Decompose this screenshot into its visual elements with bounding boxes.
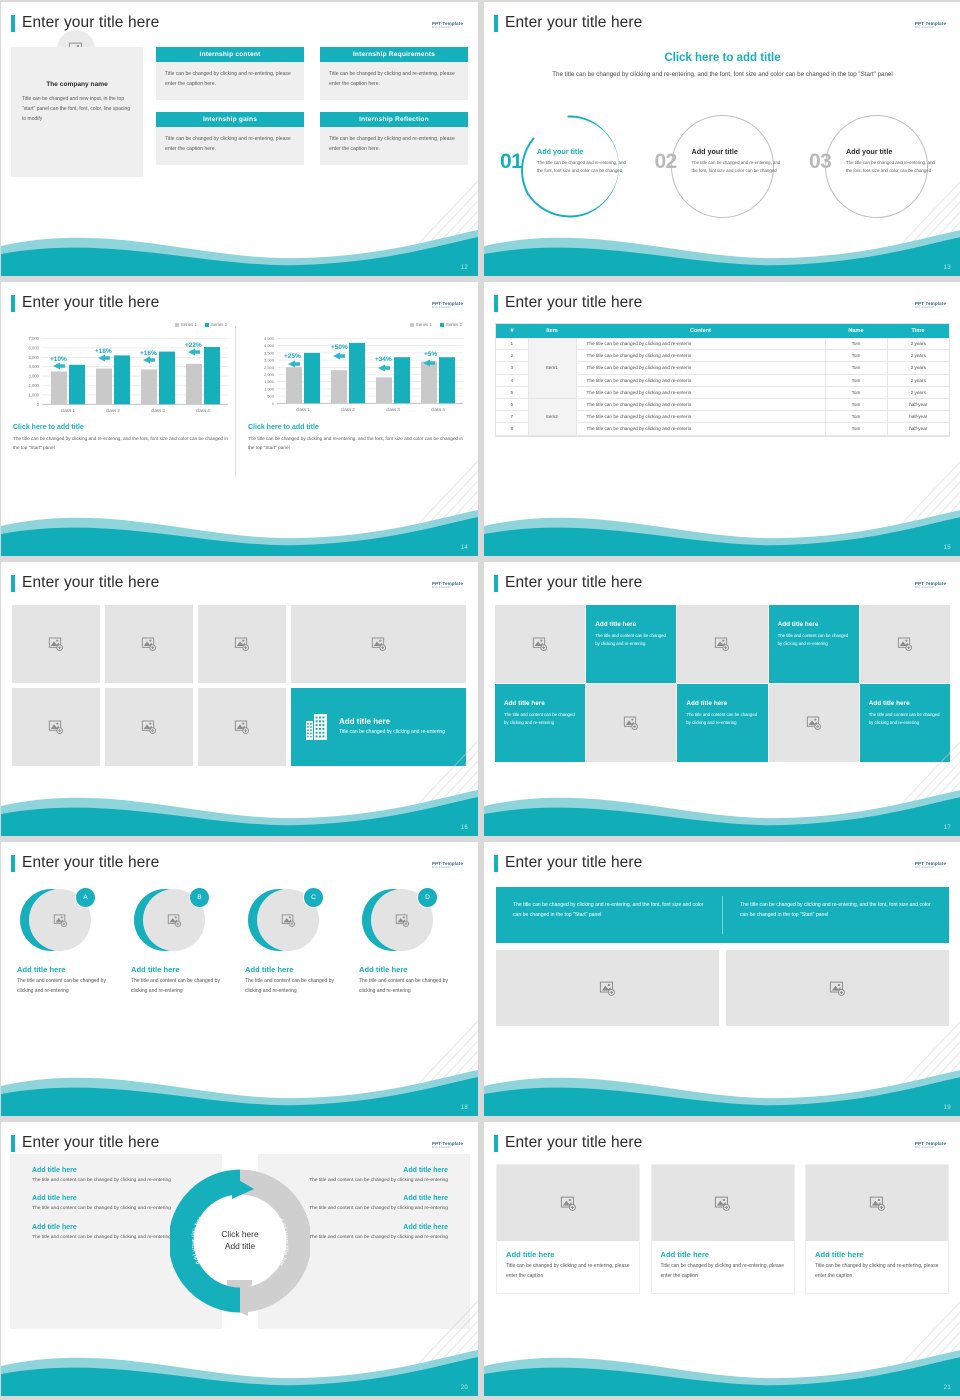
slide-header: Enter your title here (494, 294, 642, 312)
cell-name: Tom (825, 423, 887, 435)
tile-body: The title and content can be changed by … (686, 711, 758, 727)
card-body: Title can be changed by clicking and re-… (506, 1262, 630, 1282)
slide-16[interactable]: Enter your title here PPT Template Free … (1, 562, 478, 836)
step-item[interactable]: 03 Add your title The title can be chang… (807, 112, 947, 222)
svg-text:1,000: 1,000 (29, 392, 40, 397)
x-tick: class 1 (296, 407, 310, 412)
slide-20[interactable]: Enter your title here PPT Template Free … (1, 1122, 478, 1396)
cell-time: half-year (887, 423, 949, 435)
checker-grid: Add title here The title and content can… (495, 605, 950, 762)
image-placeholder[interactable] (726, 950, 949, 1026)
footer-wave (1, 216, 478, 276)
step-circles: 01 Add your title The title can be chang… (498, 112, 947, 222)
tile-heading: Add title here (504, 700, 545, 707)
page-title: Enter your title here (22, 574, 159, 592)
image-placeholder[interactable] (291, 605, 466, 683)
card[interactable]: Internship Reflection Title can be chang… (320, 112, 468, 165)
cell-index: 2 (496, 350, 528, 362)
bar-chart-2: 4,5004,0003,500 3,0002,5002,000 1,5001,0… (248, 330, 468, 415)
card-heading: Add title here (661, 1250, 785, 1259)
circle-item[interactable]: C Add title here The title and content c… (245, 887, 348, 997)
legend-entry: Series 1 (410, 322, 432, 327)
tile-body: The title and content can be changed by … (595, 632, 667, 648)
table-header-row: # Item Content Name Time (496, 324, 949, 338)
title-accent-bar (494, 575, 498, 592)
slide-15[interactable]: Enter your title here PPT Template Free … (484, 282, 960, 556)
annotation: +18% (95, 348, 112, 355)
image-placeholder[interactable] (495, 605, 585, 683)
svg-text:4,500: 4,500 (264, 336, 275, 341)
image-grid: Add title here Title can be changed by c… (12, 605, 467, 766)
card[interactable]: Internship content Title can be changed … (156, 47, 304, 100)
col-name: Name (825, 324, 887, 338)
center-line-1: Click here (221, 1229, 258, 1241)
chart-caption-heading: Click here to add title (13, 424, 233, 431)
slide-header: Enter your title here (11, 574, 159, 592)
cell-time: half-year (887, 411, 949, 423)
slide-13[interactable]: Enter your title here PPT Template Free … (484, 2, 960, 276)
tile-heading: Add title here (595, 621, 636, 628)
item-heading: Add title here (245, 965, 348, 974)
step-heading: Add your title (537, 147, 583, 156)
corner-stripes (348, 1021, 478, 1116)
svg-text:1,500: 1,500 (264, 379, 275, 384)
cell-time: 2 years (887, 350, 949, 362)
text-tile[interactable]: Add title here The title and content can… (495, 684, 585, 762)
image-placeholder-icon (869, 1195, 886, 1212)
tile-body: The title and content can be changed by … (778, 632, 850, 648)
image-placeholder-icon (371, 636, 387, 652)
image-placeholder-icon (53, 913, 68, 928)
cell-name: Tom (825, 398, 887, 410)
title-accent-bar (494, 295, 498, 312)
slide-deck-grid: Enter your title here PPT Template Free … (0, 0, 960, 1400)
x-tick: class 1 (61, 408, 75, 413)
card[interactable]: Add title here Title can be changed by c… (497, 1165, 639, 1293)
page-title: Enter your title here (505, 1134, 642, 1152)
page-number: 19 (944, 1105, 951, 1111)
cell-name: Tom (825, 338, 887, 350)
card[interactable]: Internship gains Title can be changed by… (156, 112, 304, 165)
step-number: 01 (500, 150, 522, 174)
logo: PPT Template Free download (432, 301, 466, 313)
footer-wave (484, 776, 960, 836)
cell-content: The title can be changed by clicking and… (576, 386, 825, 398)
band-text-left: The title can be changed by clicking and… (496, 887, 722, 943)
circle-item[interactable]: D Add title here The title and content c… (359, 887, 462, 997)
annotation: +25% (284, 353, 301, 360)
step-body: The title can be changed and re-entering… (692, 159, 784, 175)
image-placeholder[interactable] (12, 688, 100, 766)
chart-caption-heading: Click here to add title (248, 424, 468, 431)
image-placeholder-icon (234, 636, 250, 652)
step-item[interactable]: 02 Add your title The title can be chang… (653, 112, 793, 222)
cell-content: The title can be changed by clicking and… (576, 423, 825, 435)
chart-caption-body: The title can be changed by clicking and… (248, 434, 468, 452)
corner-stripes (348, 461, 478, 556)
svg-text:500: 500 (267, 394, 274, 399)
card[interactable]: Internship Requirements Title can be cha… (320, 47, 468, 100)
item-body: The title and content can be changed by … (131, 977, 234, 997)
footer-wave (1, 496, 478, 556)
x-tick: class 2 (106, 408, 120, 413)
svg-text:3,000: 3,000 (29, 374, 40, 379)
cell-index: 4 (496, 374, 528, 386)
card-heading: Add title here (815, 1250, 939, 1259)
col-item: Item (528, 324, 576, 338)
logo: PPT Template Free download (432, 21, 466, 33)
svg-text:3,000: 3,000 (264, 358, 275, 363)
card-header: Internship Requirements (320, 47, 468, 62)
item-heading: Add title here (131, 965, 234, 974)
tile-body: The title and content can be changed by … (869, 711, 941, 727)
image-placeholder[interactable] (652, 1165, 794, 1241)
image-placeholder-icon (560, 1195, 577, 1212)
text-tile[interactable]: Add title here The title and content can… (769, 605, 859, 683)
footer-wave (1, 1056, 478, 1116)
chart-block-left: Series 1 Series 2 7,0006,0005,000 4,0003… (13, 322, 233, 452)
card-body: Title can be changed by clicking and re-… (320, 62, 468, 100)
slide-21[interactable]: Enter your title here PPT Template Free … (484, 1122, 960, 1396)
legend-entry: Series 1 (175, 322, 197, 327)
cell-name: Tom (825, 350, 887, 362)
company-panel: The company name Title can be changed an… (11, 47, 143, 177)
title-accent-bar (11, 15, 15, 32)
slide-header: Enter your title here (11, 1134, 159, 1152)
card-header: Internship Reflection (320, 112, 468, 127)
image-placeholder[interactable] (497, 1165, 639, 1241)
svg-text:2,000: 2,000 (29, 383, 40, 388)
item-body: The title and content can be changed by … (359, 977, 462, 997)
circle-items: A Add title here The title and content c… (17, 887, 462, 997)
legend-entry: Series 2 (205, 322, 227, 327)
company-name: The company name (22, 81, 132, 88)
item-body: The title and content can be changed by … (17, 977, 120, 997)
col-time: Time (887, 324, 949, 338)
card-body: Title can be changed by clicking and re-… (815, 1262, 939, 1282)
tile-heading: Add title here (869, 700, 910, 707)
cell-index: 6 (496, 398, 528, 410)
card-row: Add title here Title can be changed by c… (497, 1165, 948, 1293)
cell-time: 2 years (887, 338, 949, 350)
legend-entry: Series 2 (440, 322, 462, 327)
slide-19[interactable]: Enter your title here PPT Template Free … (484, 842, 960, 1116)
item-heading: Add title here (17, 965, 120, 974)
image-placeholder[interactable] (860, 605, 950, 683)
svg-text:6,000: 6,000 (29, 345, 40, 350)
footer-wave (484, 216, 960, 276)
text-tile[interactable]: Add title here The title and content can… (677, 684, 767, 762)
image-placeholder-icon (897, 636, 913, 652)
page-number: 18 (461, 1105, 468, 1111)
svg-text:7,000: 7,000 (29, 336, 40, 341)
card[interactable]: Add title here Title can be changed by c… (806, 1165, 948, 1293)
logo: PPT Template Free download (432, 1141, 466, 1153)
annotation: +34% (375, 356, 392, 363)
item-heading: Add title here (359, 965, 462, 974)
card-heading: Add title here (506, 1250, 630, 1259)
chart-legend: Series 1 Series 2 (248, 322, 468, 327)
image-placeholder[interactable] (198, 605, 286, 683)
slide-12[interactable]: Enter your title here PPT Template Free … (1, 2, 478, 276)
image-placeholder-icon (714, 636, 730, 652)
title-accent-bar (494, 15, 498, 32)
image-row (496, 950, 949, 1026)
page-title: Enter your title here (22, 14, 159, 32)
page-title: Enter your title here (505, 574, 642, 592)
image-placeholder[interactable] (677, 605, 767, 683)
tile-heading: Add title here (778, 621, 819, 628)
tile-body: The title and content can be changed by … (504, 711, 576, 727)
cell-name: Tom (825, 386, 887, 398)
logo: PPT Template Free download (915, 861, 949, 873)
corner-stripes (831, 1021, 960, 1116)
chart-caption-body: The title can be changed by clicking and… (13, 434, 233, 452)
cell-index: 7 (496, 411, 528, 423)
title-accent-bar (11, 295, 15, 312)
slide-header: Enter your title here (494, 574, 642, 592)
cell-time: 2 years (887, 374, 949, 386)
slide-14[interactable]: Enter your title here PPT Template Free … (1, 282, 478, 556)
svg-text:1,000: 1,000 (264, 386, 275, 391)
x-tick: class 2 (341, 407, 355, 412)
cell-time: 2 years (887, 386, 949, 398)
image-placeholder-icon (623, 715, 639, 731)
data-table[interactable]: # Item Content Name Time 1 Item1 The tit… (496, 324, 949, 436)
image-placeholder-icon (829, 980, 846, 997)
cell-name: Tom (825, 362, 887, 374)
title-accent-bar (494, 855, 498, 872)
footer-wave (1, 776, 478, 836)
feature-heading: Add title here (339, 717, 445, 726)
cell-content: The title can be changed by clicking and… (576, 362, 825, 374)
internship-cards: Internship content Title can be changed … (156, 47, 468, 165)
badge: A (75, 887, 96, 908)
cell-index: 8 (496, 423, 528, 435)
svg-text:3,500: 3,500 (264, 350, 275, 355)
annotation: +22% (185, 342, 202, 349)
page-number: 20 (461, 1385, 468, 1391)
step-heading: Add your title (846, 147, 892, 156)
building-icon (305, 713, 329, 741)
badge: C (303, 887, 324, 908)
card[interactable]: Add title here Title can be changed by c… (652, 1165, 794, 1293)
logo: PPT Template Free download (432, 581, 466, 593)
item-body: The title and content can be changed by … (245, 977, 348, 997)
image-placeholder-icon (234, 719, 250, 735)
title-accent-bar (11, 855, 15, 872)
cell-index: 1 (496, 338, 528, 350)
page-number: 15 (944, 545, 951, 551)
image-placeholder[interactable] (198, 688, 286, 766)
annotation: +16% (140, 350, 157, 357)
text-tile[interactable]: Add title here The title and content can… (860, 684, 950, 762)
image-placeholder-icon (806, 715, 822, 731)
slide-header: Enter your title here (11, 14, 159, 32)
circle-item[interactable]: B Add title here The title and content c… (131, 887, 234, 997)
circle-item[interactable]: A Add title here The title and content c… (17, 887, 120, 997)
image-placeholder-icon (532, 636, 548, 652)
divider (235, 326, 236, 476)
badge: B (189, 887, 210, 908)
cell-time: half-year (887, 398, 949, 410)
image-placeholder-icon (48, 719, 64, 735)
table-row[interactable]: 6 Item2 The title can be changed by clic… (496, 398, 949, 410)
annotation: +5% (424, 351, 437, 358)
cell-item: Item1 (528, 338, 576, 398)
step-number: 03 (809, 150, 831, 174)
step-body: The title can be changed and re-entering… (846, 159, 938, 175)
image-placeholder-icon (48, 636, 64, 652)
step-heading: Add your title (692, 147, 738, 156)
col-content: Content (576, 324, 825, 338)
center-line-2: Add title (221, 1241, 258, 1253)
step-number: 02 (655, 150, 677, 174)
feature-body: Title can be changed by clicking and re-… (339, 728, 445, 737)
step-item[interactable]: 01 Add your title The title can be chang… (498, 112, 638, 222)
logo: PPT Template Free download (915, 1141, 949, 1153)
cell-content: The title can be changed by clicking and… (576, 338, 825, 350)
logo: PPT Template Free download (432, 861, 466, 873)
x-tick: class 4 (196, 408, 210, 413)
image-placeholder[interactable] (806, 1165, 948, 1241)
corner-stripes (831, 461, 960, 556)
image-placeholder-icon (141, 719, 157, 735)
cell-name: Tom (825, 374, 887, 386)
page-title: Enter your title here (505, 294, 642, 312)
bar-chart-1: 7,0006,0005,000 4,0003,0002,000 1,0000 (13, 330, 233, 415)
corner-stripes (831, 1301, 960, 1396)
card-header: Internship gains (156, 112, 304, 127)
svg-text:5,000: 5,000 (29, 355, 40, 360)
slide-18[interactable]: Enter your title here PPT Template Free … (1, 842, 478, 1116)
slide-header: Enter your title here (494, 854, 642, 872)
band-text-right: The title can be changed by clicking and… (723, 887, 949, 943)
table-row[interactable]: 1 Item1 The title can be changed by clic… (496, 338, 949, 350)
chart-svg: 4,5004,0003,500 3,0002,5002,000 1,5001,0… (248, 330, 468, 415)
logo: PPT Template Free download (915, 21, 949, 33)
svg-text:2,000: 2,000 (264, 372, 275, 377)
text-tile[interactable]: Add title here The title and content can… (586, 605, 676, 683)
logo: PPT Template Free download (915, 581, 949, 593)
chart-legend: Series 1 Series 2 (13, 322, 233, 327)
annotation: +50% (331, 344, 348, 351)
image-placeholder[interactable] (12, 605, 100, 683)
card-body: Title can be changed by clicking and re-… (156, 62, 304, 100)
cycle-center-label[interactable]: Click here Add title (221, 1229, 258, 1253)
image-placeholder[interactable] (586, 684, 676, 762)
page-title: Enter your title here (22, 1134, 159, 1152)
subheadline: The title can be changed by clicking and… (484, 70, 960, 80)
cell-content: The title can be changed by clicking and… (576, 374, 825, 386)
svg-text:0: 0 (272, 401, 275, 406)
title-accent-bar (11, 1135, 15, 1152)
slide-header: Enter your title here (11, 854, 159, 872)
annotation: +10% (50, 356, 67, 363)
image-placeholder[interactable] (769, 684, 859, 762)
card-body: Title can be changed by clicking and re-… (661, 1262, 785, 1282)
corner-stripes (348, 181, 478, 276)
card-body: Title can be changed by clicking and re-… (320, 127, 468, 165)
page-number: 13 (944, 265, 951, 271)
cell-content: The title can be changed by clicking and… (576, 350, 825, 362)
page-title: Enter your title here (505, 854, 642, 872)
badge: D (417, 887, 438, 908)
image-placeholder-icon (395, 913, 410, 928)
cell-time: 2 years (887, 362, 949, 374)
image-placeholder-icon (281, 913, 296, 928)
footer-wave (1, 1336, 478, 1396)
cell-index: 3 (496, 362, 528, 374)
cell-content: The title can be changed by clicking and… (576, 398, 825, 410)
title-accent-bar (494, 1135, 498, 1152)
logo: PPT Template Free download (915, 301, 949, 313)
headline: Click here to add title (484, 52, 960, 64)
x-tick: class 3 (386, 407, 400, 412)
image-placeholder[interactable] (105, 688, 193, 766)
svg-text:2,500: 2,500 (264, 365, 275, 370)
cell-name: Tom (825, 411, 887, 423)
page-number: 12 (461, 265, 468, 271)
text-band: The title can be changed by clicking and… (496, 887, 949, 943)
company-body: Title can be changed and new input, in t… (22, 95, 132, 124)
cell-index: 5 (496, 386, 528, 398)
x-tick: class 3 (151, 408, 165, 413)
chart-block-right: Series 1 Series 2 4,5004,0003,500 3,0002… (248, 322, 468, 452)
page-number: 17 (944, 825, 951, 831)
feature-tile[interactable]: Add title here Title can be changed by c… (291, 688, 466, 766)
cell-item: Item2 (528, 398, 576, 435)
svg-text:4,000: 4,000 (29, 364, 40, 369)
page-title: Enter your title here (505, 14, 642, 32)
cycle-diagram: Add your title here Add your title here … (170, 1156, 310, 1326)
x-tick: class 4 (431, 407, 445, 412)
step-body: The title can be changed and re-entering… (537, 159, 629, 175)
footer-wave (484, 1056, 960, 1116)
svg-text:4,000: 4,000 (264, 343, 275, 348)
image-placeholder-icon (141, 636, 157, 652)
image-placeholder-icon (714, 1195, 731, 1212)
svg-text:0: 0 (37, 402, 40, 407)
image-placeholder-icon (599, 980, 616, 997)
page-title: Enter your title here (22, 294, 159, 312)
page-number: 16 (461, 825, 468, 831)
footer-wave (484, 496, 960, 556)
tile-heading: Add title here (686, 700, 727, 707)
chart-svg: 7,0006,0005,000 4,0003,0002,000 1,0000 (13, 330, 233, 415)
col-index: # (496, 324, 528, 338)
cell-content: The title can be changed by clicking and… (576, 411, 825, 423)
title-accent-bar (11, 575, 15, 592)
page-number: 21 (944, 1385, 951, 1391)
slide-header: Enter your title here (494, 14, 642, 32)
page-title: Enter your title here (22, 854, 159, 872)
page-number: 14 (461, 545, 468, 551)
image-placeholder[interactable] (496, 950, 719, 1026)
card-header: Internship content (156, 47, 304, 62)
image-placeholder[interactable] (105, 605, 193, 683)
image-placeholder-icon (167, 913, 182, 928)
slide-header: Enter your title here (494, 1134, 642, 1152)
footer-wave (484, 1336, 960, 1396)
slide-17[interactable]: Enter your title here PPT Template Free … (484, 562, 960, 836)
card-body: Title can be changed by clicking and re-… (156, 127, 304, 165)
slide-header: Enter your title here (11, 294, 159, 312)
